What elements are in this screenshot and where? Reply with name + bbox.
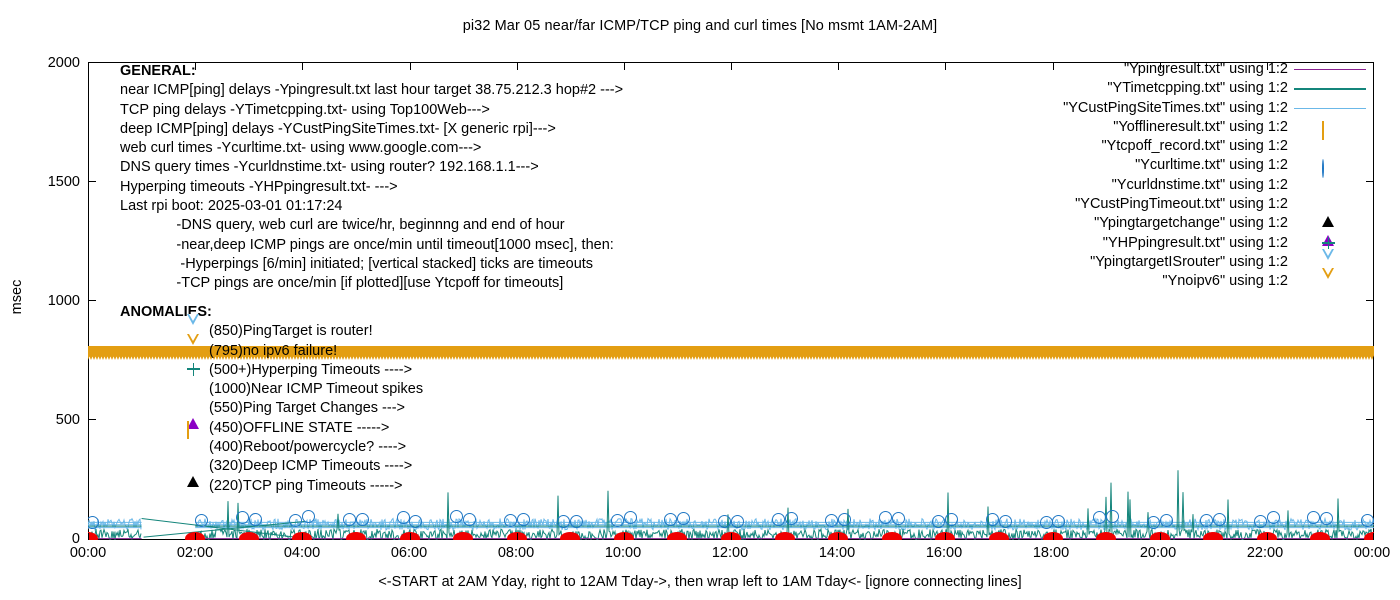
dns-time-point bbox=[1203, 532, 1223, 540]
curl-time-point bbox=[785, 512, 798, 525]
curl-time-point bbox=[879, 511, 892, 524]
legend-row-1: "YTimetcpping.txt" using 1:2 bbox=[940, 79, 1380, 98]
x-tick-5: 10:00 bbox=[583, 545, 663, 561]
legend-label-11: "Ynoipv6" using 1:2 bbox=[1162, 272, 1288, 291]
y-tick-2000: 2000 bbox=[20, 55, 80, 71]
anomaly-label-5: (450)OFFLINE STATE -----> bbox=[209, 419, 389, 438]
legend-label-8: "Ypingtargetchange" using 1:2 bbox=[1094, 214, 1288, 233]
legend-row-2: "YCustPingSiteTimes.txt" using 1:2 bbox=[940, 99, 1380, 118]
legend-label-10: "YpingtargetISrouter" using 1:2 bbox=[1090, 253, 1288, 272]
legend-key-open-circle-blue bbox=[1290, 156, 1370, 175]
legend-row-6: "Ycurldnstime.txt" using 1:2 bbox=[940, 176, 1380, 195]
legend-row-11: "Ynoipv6" using 1:2 bbox=[940, 272, 1380, 291]
legend-row-9: "YHPpingresult.txt" using 1:2 bbox=[940, 234, 1380, 253]
anomaly-row-3: (1000)Near ICMP Timeout spikes bbox=[187, 380, 680, 399]
general-line-0: near ICMP[ping] delays -Ypingresult.txt … bbox=[120, 81, 840, 100]
y-tick-500: 500 bbox=[20, 412, 80, 428]
anomaly-row-6: (400)Reboot/powercycle? ----> bbox=[187, 438, 680, 457]
legend-label-1: "YTimetcpping.txt" using 1:2 bbox=[1107, 79, 1288, 98]
general-line-3: web curl times -Ycurltime.txt- using www… bbox=[120, 139, 840, 158]
x-tick-6: 12:00 bbox=[690, 545, 770, 561]
curl-time-point bbox=[1320, 512, 1333, 525]
dns-time-point bbox=[667, 532, 687, 540]
anomaly-label-1: (795)no ipv6 failure! bbox=[209, 342, 337, 361]
curl-time-point bbox=[999, 515, 1012, 528]
legend-key-line-lightblue bbox=[1290, 99, 1370, 118]
curl-time-point bbox=[1040, 516, 1053, 529]
chart-root: pi32 Mar 05 near/far ICMP/TCP ping and c… bbox=[0, 0, 1400, 600]
curl-time-point bbox=[504, 514, 517, 527]
x-tick-0: 00:00 bbox=[48, 545, 128, 561]
legend: "Ypingresult.txt" using 1:2 "YTimetcppin… bbox=[940, 60, 1380, 292]
legend-label-7: "YCustPingTimeout.txt" using 1:2 bbox=[1075, 195, 1288, 214]
general-heading: GENERAL: bbox=[120, 62, 840, 81]
x-tick-11: 22:00 bbox=[1225, 545, 1305, 561]
legend-key-filled-circle-red bbox=[1290, 176, 1370, 195]
legend-key-filled-square-yellow bbox=[1290, 137, 1370, 156]
x-tick-3: 06:00 bbox=[369, 545, 449, 561]
dns-time-point bbox=[346, 532, 366, 540]
anomalies-heading: ANOMALIES: bbox=[120, 303, 680, 322]
curl-time-point bbox=[463, 513, 476, 526]
dns-time-point bbox=[453, 532, 473, 540]
curl-time-point bbox=[249, 513, 262, 526]
legend-row-8: "Ypingtargetchange" using 1:2 bbox=[940, 214, 1380, 233]
legend-row-7: "YCustPingTimeout.txt" using 1:2 bbox=[940, 195, 1380, 214]
anomaly-label-6: (400)Reboot/powercycle? ----> bbox=[209, 438, 406, 457]
curl-time-point bbox=[892, 512, 905, 525]
legend-row-5: "Ycurltime.txt" using 1:2 bbox=[940, 156, 1380, 175]
legend-row-10: "YpingtargetISrouter" using 1:2 bbox=[940, 253, 1380, 272]
dns-time-point bbox=[239, 532, 259, 540]
x-tick-4: 08:00 bbox=[476, 545, 556, 561]
anomaly-row-4: (550)Ping Target Changes ---> bbox=[187, 399, 680, 418]
anomaly-row-8: (220)TCP ping Timeouts -----> bbox=[187, 477, 680, 496]
x-tick-7: 14:00 bbox=[797, 545, 877, 561]
x-tick-9: 18:00 bbox=[1011, 545, 1091, 561]
y-tick-1500: 1500 bbox=[20, 174, 80, 190]
legend-label-3: "Yofflineresult.txt" using 1:2 bbox=[1113, 118, 1288, 137]
curl-time-point bbox=[624, 511, 637, 524]
curl-time-point bbox=[1267, 511, 1280, 524]
anomaly-row-5: (450)OFFLINE STATE -----> bbox=[187, 419, 680, 438]
legend-label-0: "Ypingresult.txt" using 1:2 bbox=[1124, 60, 1288, 79]
legend-label-4: "Ytcpoff_record.txt" using 1:2 bbox=[1101, 137, 1288, 156]
curl-time-point bbox=[1147, 516, 1160, 529]
legend-key-line-purple bbox=[1290, 60, 1370, 79]
x-tick-10: 20:00 bbox=[1118, 545, 1198, 561]
general-line-5: Hyperping timeouts -YHPpingresult.txt- -… bbox=[120, 178, 840, 197]
curl-time-point bbox=[343, 513, 356, 526]
curl-time-point bbox=[986, 513, 999, 526]
anomalies-annotation-block: ANOMALIES: (850)PingTarget is router! (7… bbox=[120, 303, 680, 496]
dns-time-point bbox=[1096, 532, 1116, 540]
legend-key-open-triangle-up-black bbox=[1290, 195, 1370, 214]
dns-time-point bbox=[775, 532, 795, 540]
dns-time-point bbox=[560, 532, 580, 540]
general-line-8: -near,deep ICMP pings are once/min until… bbox=[120, 236, 840, 255]
general-line-7: -DNS query, web curl are twice/hr, begin… bbox=[120, 216, 840, 235]
dns-time-point bbox=[989, 532, 1009, 540]
x-tick-12: 00:00 bbox=[1332, 545, 1400, 561]
anomaly-row-7: (320)Deep ICMP Timeouts ----> bbox=[187, 457, 680, 476]
curl-time-point bbox=[772, 513, 785, 526]
legend-label-5: "Ycurltime.txt" using 1:2 bbox=[1135, 156, 1288, 175]
anomaly-row-1: (795)no ipv6 failure! bbox=[187, 342, 680, 361]
anomaly-label-8: (220)TCP ping Timeouts -----> bbox=[209, 477, 403, 496]
y-tick-1000: 1000 bbox=[20, 293, 80, 309]
general-line-10: -TCP pings are once/min [if plotted][use… bbox=[120, 274, 840, 293]
anomaly-row-2: (500+)Hyperping Timeouts ----> bbox=[187, 361, 680, 380]
chart-title: pi32 Mar 05 near/far ICMP/TCP ping and c… bbox=[0, 18, 1400, 34]
curl-time-point bbox=[1213, 513, 1226, 526]
curl-time-point bbox=[1254, 515, 1267, 528]
curl-time-point bbox=[611, 514, 624, 527]
curl-time-point bbox=[945, 513, 958, 526]
x-axis-caption: <-START at 2AM Yday, right to 12AM Tday-… bbox=[0, 574, 1400, 590]
legend-key-filled-triangle-up-purple bbox=[1290, 214, 1370, 233]
general-line-2: deep ICMP[ping] delays -YCustPingSiteTim… bbox=[120, 120, 840, 139]
anomaly-label-0: (850)PingTarget is router! bbox=[209, 322, 373, 341]
anomaly-row-0: (850)PingTarget is router! bbox=[187, 322, 680, 341]
legend-key-line-teal bbox=[1290, 79, 1370, 98]
legend-key-open-triangle-down-orange bbox=[1290, 272, 1370, 291]
x-tick-2: 04:00 bbox=[262, 545, 342, 561]
curl-time-point bbox=[1160, 514, 1173, 527]
curl-time-point bbox=[397, 511, 410, 524]
legend-row-0: "Ypingresult.txt" using 1:2 bbox=[940, 60, 1380, 79]
legend-row-4: "Ytcpoff_record.txt" using 1:2 bbox=[940, 137, 1380, 156]
general-line-4: DNS query times -Ycurldnstime.txt- using… bbox=[120, 158, 840, 177]
anomaly-label-4: (550)Ping Target Changes ---> bbox=[209, 399, 405, 418]
x-tick-8: 16:00 bbox=[904, 545, 984, 561]
anomaly-label-7: (320)Deep ICMP Timeouts ----> bbox=[209, 457, 412, 476]
anomaly-label-2: (500+)Hyperping Timeouts ----> bbox=[209, 361, 412, 380]
anomaly-label-3: (1000)Near ICMP Timeout spikes bbox=[209, 380, 423, 399]
dns-time-point bbox=[882, 532, 902, 540]
general-line-6: Last rpi boot: 2025-03-01 01:17:24 bbox=[120, 197, 840, 216]
legend-label-9: "YHPpingresult.txt" using 1:2 bbox=[1103, 234, 1288, 253]
legend-label-2: "YCustPingSiteTimes.txt" using 1:2 bbox=[1063, 99, 1288, 118]
legend-key-open-square-orange bbox=[1290, 118, 1370, 137]
general-line-1: TCP ping delays -YTimetcpping.txt- using… bbox=[120, 101, 840, 120]
curl-time-point bbox=[517, 513, 530, 526]
general-annotation-block: GENERAL: near ICMP[ping] delays -Ypingre… bbox=[120, 62, 840, 294]
curl-time-point bbox=[1361, 514, 1374, 527]
curl-time-point bbox=[731, 515, 744, 528]
dns-time-point bbox=[1310, 532, 1330, 540]
general-line-9: -Hyperpings [6/min] initiated; [vertical… bbox=[120, 255, 840, 274]
legend-label-6: "Ycurldnstime.txt" using 1:2 bbox=[1112, 176, 1288, 195]
legend-row-3: "Yofflineresult.txt" using 1:2 bbox=[940, 118, 1380, 137]
